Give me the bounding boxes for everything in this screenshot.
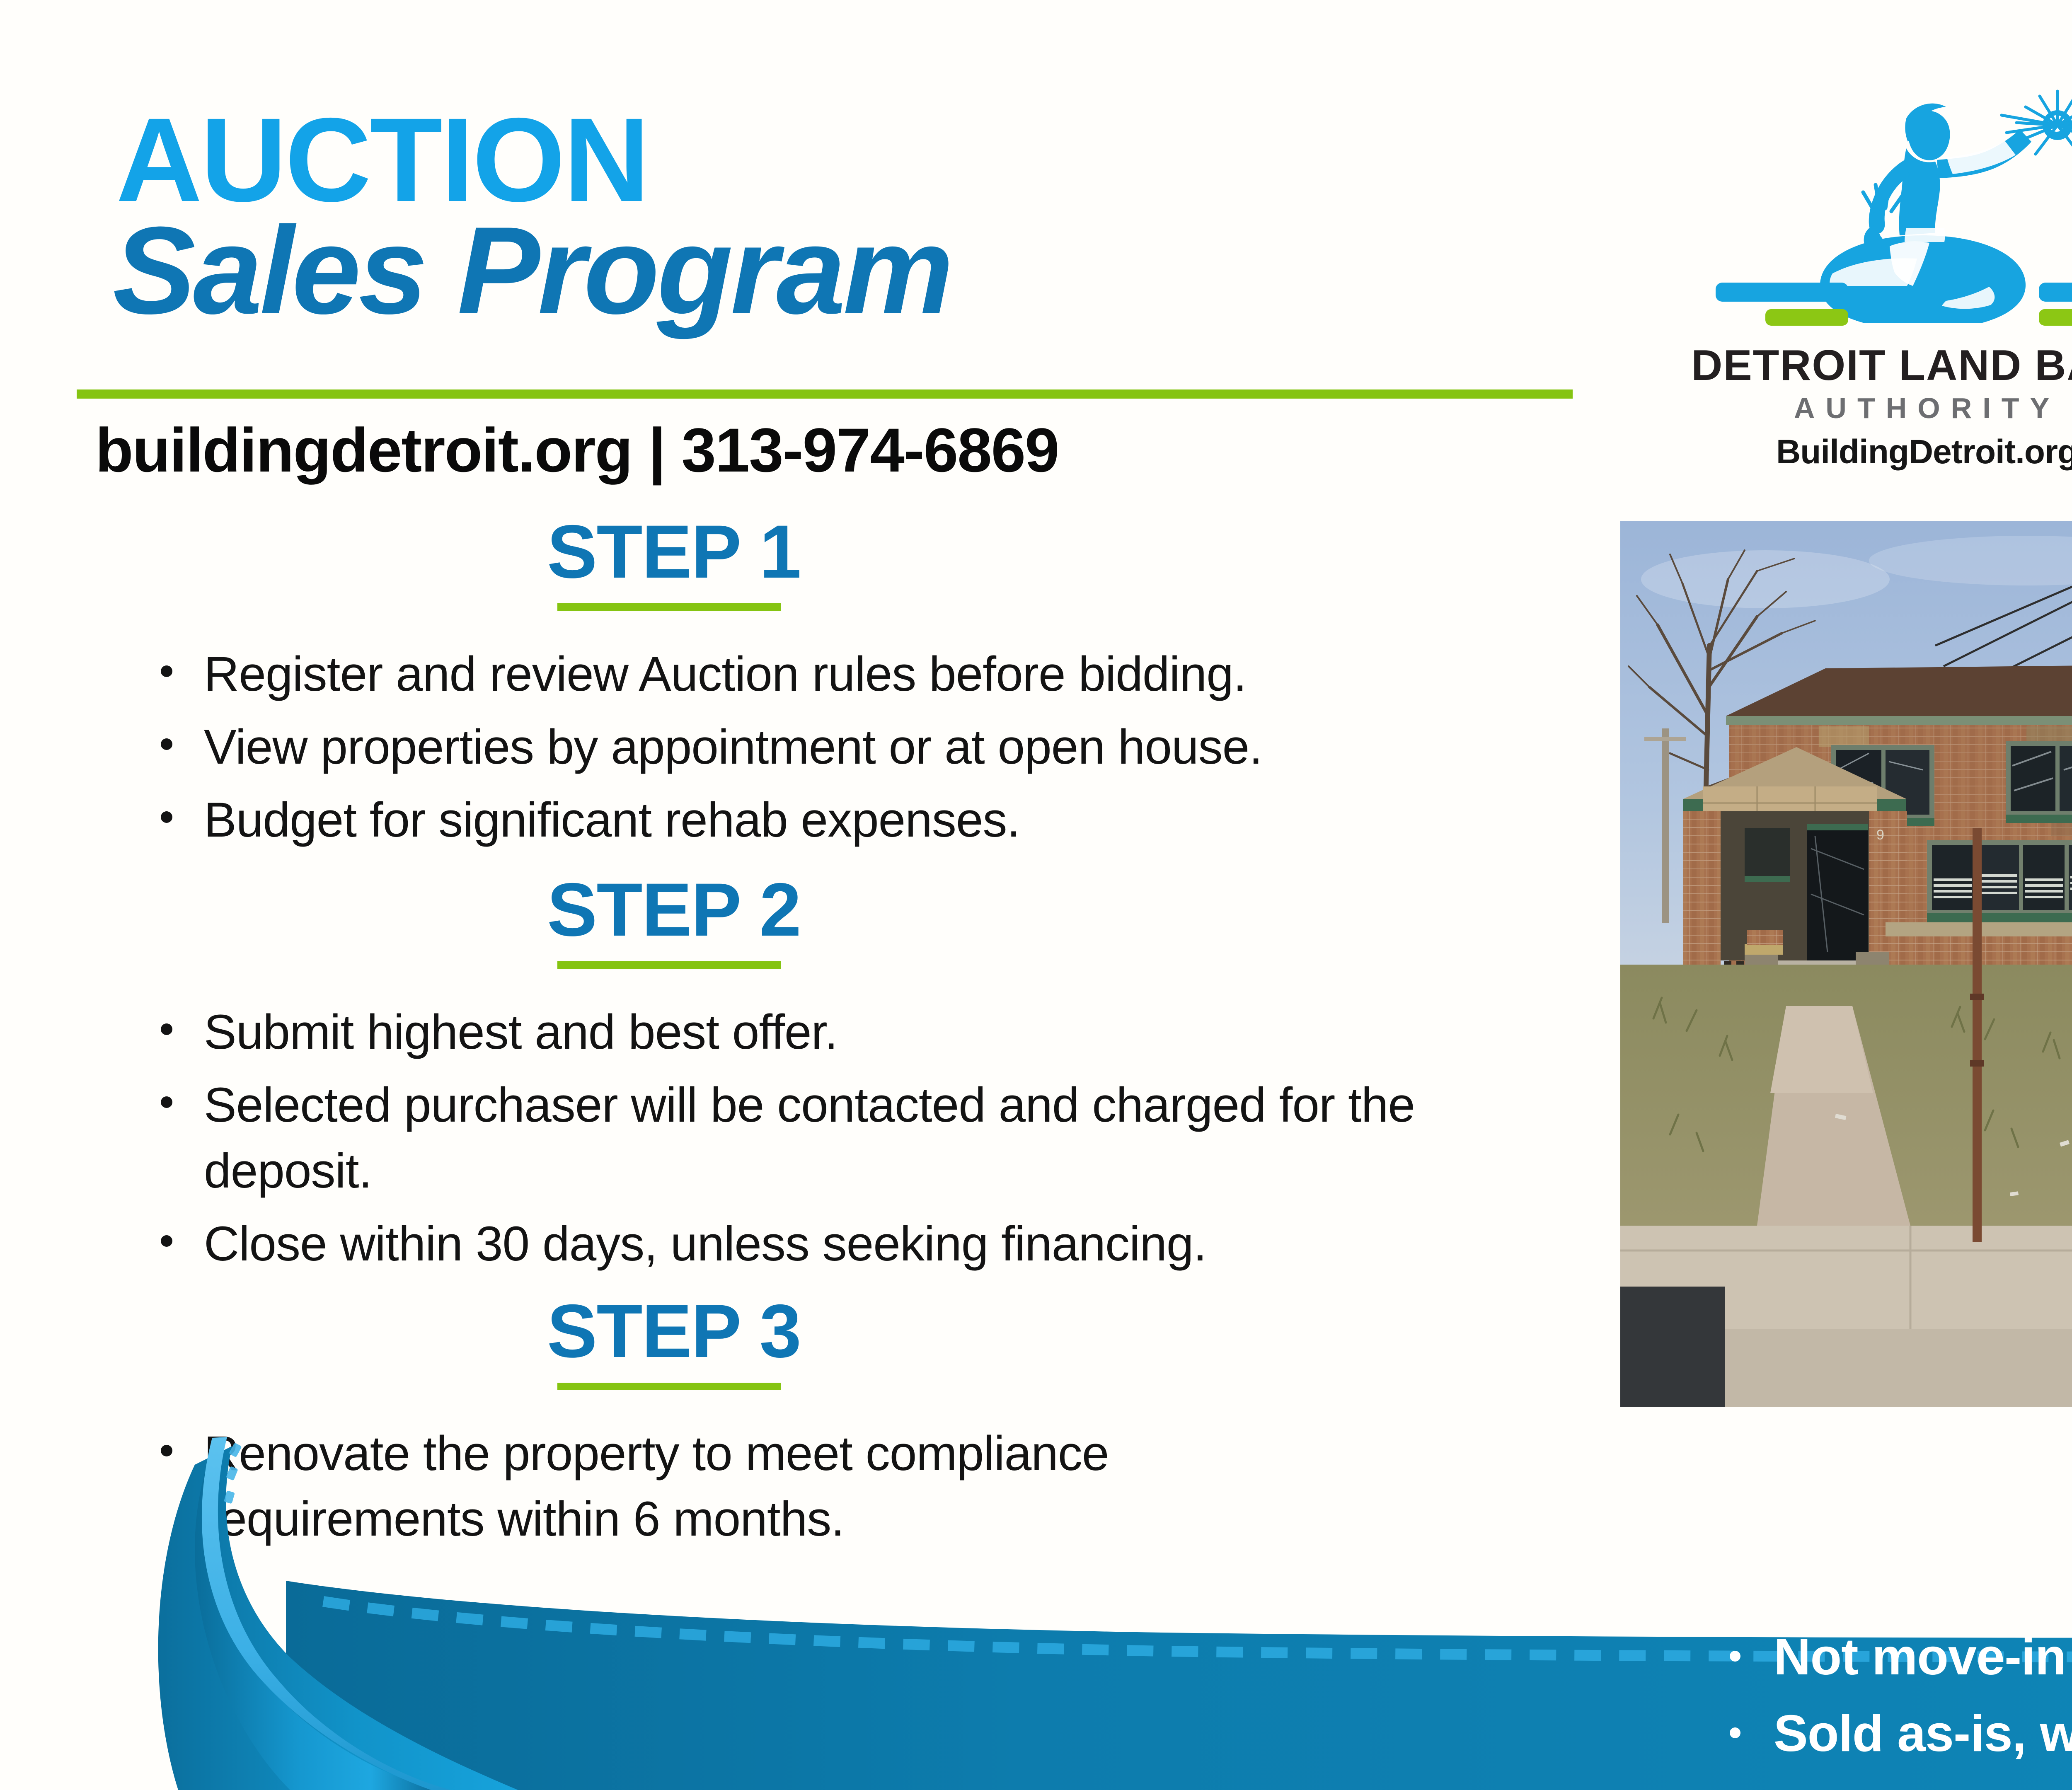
list-item: Renovate the property to meet compliance…	[153, 1421, 1272, 1552]
step-1-title: STEP 1	[547, 514, 801, 589]
banner-bullets: Not move-in ready Sold as-is, where-is	[1720, 1628, 2072, 1782]
step-3-title: STEP 3	[547, 1293, 801, 1369]
list-item: Submit highest and best offer.	[153, 999, 1421, 1065]
list-item: View properties by appointment or at ope…	[153, 714, 1600, 780]
step-2-bullets: Submit highest and best offer. Selected …	[153, 999, 1421, 1276]
steps-list: STEP 1 Register and review Auction rules…	[0, 514, 1600, 1559]
step-block-3: STEP 3 Renovate the property to meet com…	[0, 1293, 1600, 1552]
page-title-secondary: Sales Program	[113, 211, 951, 329]
property-photo: 9	[1620, 521, 2072, 1407]
step-1-bullets: Register and review Auction rules before…	[153, 641, 1600, 853]
step-2-underline	[557, 961, 781, 969]
header-block: AUCTION Sales Program buildingdetroit.or…	[0, 0, 1616, 489]
list-item: Register and review Auction rules before…	[153, 641, 1600, 707]
logo-detroit-land-bank-authority: DETROIT LAND BANK AUTHORITY BuildingDetr…	[1682, 79, 2072, 443]
list-item: Selected purchaser will be contacted and…	[153, 1072, 1421, 1203]
logo-name-text: DETROIT LAND BANK	[1682, 344, 2072, 387]
list-item: Not move-in ready	[1720, 1628, 2072, 1686]
title-divider-rule	[77, 389, 1573, 399]
list-item: Close within 30 days, unless seeking fin…	[153, 1211, 1421, 1277]
step-1-underline	[557, 603, 781, 611]
step-2-title: STEP 2	[547, 872, 801, 947]
photo-redaction-block	[1620, 1287, 1725, 1407]
page-title-primary: AUCTION	[116, 104, 648, 217]
step-block-1: STEP 1 Register and review Auction rules…	[0, 514, 1600, 853]
spirit-of-detroit-icon	[1682, 79, 2072, 344]
step-3-bullets: Renovate the property to meet compliance…	[153, 1421, 1272, 1552]
logo-url-text: BuildingDetroit.org	[1682, 435, 2072, 469]
step-3-header: STEP 3	[0, 1293, 1600, 1369]
list-item: Sold as-is, where-is	[1720, 1705, 2072, 1763]
svg-text:9: 9	[1876, 827, 1884, 843]
list-item: Budget for significant rehab expenses.	[153, 787, 1600, 853]
contact-line[interactable]: buildingdetroit.org | 313-974-6869	[95, 414, 1059, 486]
step-3-underline	[557, 1383, 781, 1390]
step-block-2: STEP 2 Submit highest and best offer. Se…	[0, 872, 1600, 1276]
step-2-header: STEP 2	[0, 872, 1600, 947]
logo-subname-text: AUTHORITY	[1682, 394, 2072, 423]
step-1-header: STEP 1	[0, 514, 1600, 589]
